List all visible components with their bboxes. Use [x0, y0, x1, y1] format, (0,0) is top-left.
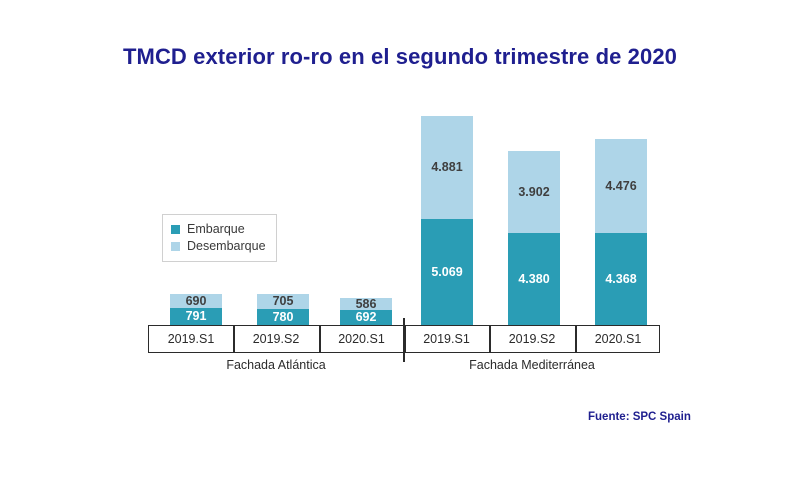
chart-legend: Embarque Desembarque [162, 214, 277, 262]
stacked-bar[interactable]: 705780 [257, 294, 309, 325]
group-label-mediterranea: Fachada Mediterránea [404, 358, 660, 372]
source-attribution: Fuente: SPC Spain [588, 411, 691, 423]
stacked-bar[interactable]: 3.9024.380 [508, 151, 560, 325]
bar-segment-desembarque[interactable]: 4.881 [421, 116, 473, 219]
bar-value-label-desembarque: 4.881 [431, 161, 462, 174]
legend-label-desembarque: Desembarque [187, 239, 266, 253]
x-axis-tick-label: 2019.S1 [149, 326, 233, 352]
legend-swatch-desembarque [171, 242, 180, 251]
x-axis-divider [319, 326, 321, 352]
bar-value-label-embarque: 4.380 [518, 273, 549, 286]
group-separator [403, 318, 405, 362]
bar-segment-embarque[interactable]: 692 [340, 310, 392, 325]
x-axis-divider [233, 326, 235, 352]
legend-item-desembarque: Desembarque [171, 238, 266, 254]
bar-segment-embarque[interactable]: 791 [170, 308, 222, 325]
bar-value-label-desembarque: 4.476 [605, 180, 636, 193]
bar-value-label-desembarque: 586 [356, 298, 377, 311]
bar-value-label-embarque: 780 [273, 311, 294, 324]
legend-label-embarque: Embarque [187, 222, 245, 236]
x-axis-tick-label: 2019.S2 [233, 326, 319, 352]
bar-segment-desembarque[interactable]: 586 [340, 298, 392, 310]
bar-segment-embarque[interactable]: 4.380 [508, 233, 560, 325]
stacked-bar[interactable]: 4.4764.368 [595, 139, 647, 325]
group-label-atlantica: Fachada Atlántica [148, 358, 404, 372]
bar-value-label-embarque: 5.069 [431, 266, 462, 279]
x-axis-tick-label: 2019.S1 [404, 326, 489, 352]
bar-value-label-desembarque: 705 [273, 295, 294, 308]
bar-value-label-embarque: 791 [186, 310, 207, 323]
bar-segment-desembarque[interactable]: 705 [257, 294, 309, 309]
bar-value-label-desembarque: 3.902 [518, 186, 549, 199]
bar-segment-embarque[interactable]: 780 [257, 309, 309, 325]
legend-item-embarque: Embarque [171, 221, 266, 237]
bar-value-label-embarque: 4.368 [605, 273, 636, 286]
bar-segment-embarque[interactable]: 4.368 [595, 233, 647, 325]
stacked-bar[interactable]: 586692 [340, 298, 392, 325]
x-axis-tick-label: 2020.S1 [319, 326, 404, 352]
x-axis-tick-label: 2019.S2 [489, 326, 575, 352]
bar-value-label-embarque: 692 [356, 311, 377, 324]
bar-value-label-desembarque: 690 [186, 295, 207, 308]
stacked-bar[interactable]: 690791 [170, 294, 222, 325]
bar-segment-desembarque[interactable]: 3.902 [508, 151, 560, 233]
x-axis-divider [575, 326, 577, 352]
bar-segment-desembarque[interactable]: 690 [170, 294, 222, 308]
bar-segment-embarque[interactable]: 5.069 [421, 219, 473, 325]
x-axis-tick-label: 2020.S1 [575, 326, 661, 352]
bar-segment-desembarque[interactable]: 4.476 [595, 139, 647, 233]
x-axis-divider [489, 326, 491, 352]
legend-swatch-embarque [171, 225, 180, 234]
chart-container: TMCD exterior ro-ro en el segundo trimes… [0, 0, 800, 485]
stacked-bar[interactable]: 4.8815.069 [421, 116, 473, 325]
